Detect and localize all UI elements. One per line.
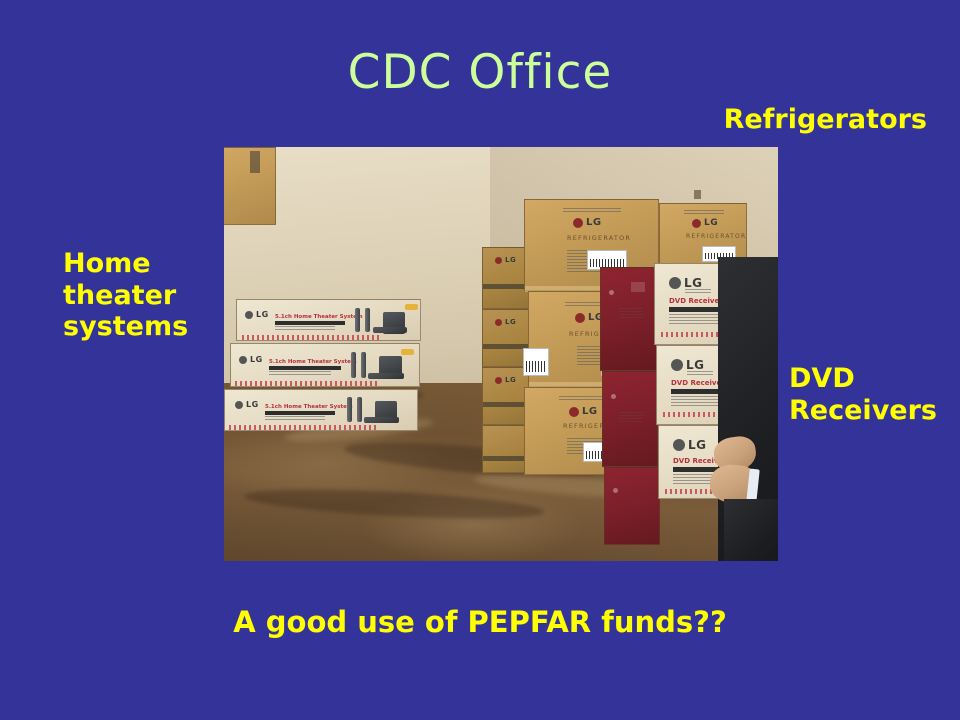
product-label-home-theater: 5.1ch Home Theater System (265, 404, 353, 410)
spec-text (265, 416, 325, 421)
red-carton-top (600, 267, 658, 371)
shipping-label (523, 348, 549, 376)
lg-circle-icon (245, 311, 253, 319)
spec-bar (265, 411, 335, 415)
lg-circle-icon (673, 439, 685, 451)
product-label-home-theater: 5.1ch Home Theater System (275, 314, 363, 320)
lg-logo: LG (569, 406, 598, 417)
red-carton-label (631, 282, 645, 292)
lg-circle-icon (573, 218, 583, 228)
slide-caption: A good use of PEPFAR funds?? (0, 605, 960, 639)
lg-circle-icon (575, 313, 585, 323)
wall-switch-mark (694, 190, 701, 199)
callout-home-theater: Home theater systems (63, 248, 188, 343)
spec-bar (269, 366, 341, 370)
product-label-refrigerator: REFRIGERATOR (686, 233, 746, 240)
lg-wordmark: LG (688, 438, 707, 452)
lg-wordmark: LG (505, 256, 516, 264)
lg-wordmark: LG (250, 355, 263, 364)
lg-logo: LG (669, 276, 703, 290)
red-carton-mark (609, 290, 614, 295)
slide: CDC Office Refrigerators Home theater sy… (0, 0, 960, 720)
red-carton-mid (602, 371, 658, 467)
product-label-refrigerator: REFRIGERATOR (567, 234, 631, 242)
spec-text (275, 326, 335, 331)
lg-wordmark: LG (684, 276, 703, 290)
yellow-sticker (405, 304, 418, 310)
photo-scene: LG 5.1ch Home Theater System LG 5.1ch Ho… (224, 147, 778, 561)
callout-refrigerators: Refrigerators (724, 104, 927, 136)
lg-wordmark: LG (586, 217, 602, 228)
center-speaker (364, 417, 399, 423)
home-theater-box-bottom: LG 5.1ch Home Theater System (224, 389, 418, 431)
lg-logo: LG (495, 256, 516, 264)
callout-dvd-receivers: DVD Receivers (789, 363, 937, 426)
korean-text (563, 208, 621, 214)
speaker-tower (361, 352, 366, 378)
lg-logo: LG (573, 217, 602, 228)
lg-logo: LG (245, 310, 269, 319)
lg-wordmark: LG (505, 318, 516, 326)
lg-logo: LG (495, 318, 516, 326)
lg-wordmark: LG (505, 376, 516, 384)
person-lower-jacket (724, 499, 778, 561)
red-carton-mark (611, 394, 616, 399)
lg-tagline (687, 371, 713, 375)
photo-office-boxes: LG 5.1ch Home Theater System LG 5.1ch Ho… (224, 147, 778, 561)
decor-dotline (229, 425, 377, 430)
red-carton-text (619, 308, 643, 320)
speaker-tower (365, 308, 370, 332)
lg-wordmark: LG (256, 310, 269, 319)
lg-wordmark: LG (704, 218, 718, 228)
spec-bar (275, 321, 345, 325)
spec-text (269, 371, 331, 376)
lg-wordmark: LG (246, 400, 259, 409)
page-title: CDC Office (0, 48, 960, 97)
center-speaker (368, 373, 404, 379)
lg-circle-icon (239, 356, 247, 364)
lg-wordmark: LG (582, 406, 598, 417)
yellow-sticker (401, 349, 414, 355)
lg-logo: LG (239, 355, 263, 364)
lg-circle-icon (495, 377, 502, 384)
lg-logo: LG (235, 400, 259, 409)
carton-top-left-mark (250, 151, 260, 173)
lg-logo: LG (495, 376, 516, 384)
lg-circle-icon (495, 257, 502, 264)
home-theater-box-mid: LG 5.1ch Home Theater System (230, 343, 420, 387)
side-carton-1: LG (482, 247, 530, 309)
red-carton-text (619, 412, 643, 424)
speaker-tower (357, 397, 362, 422)
lg-wordmark: LG (686, 358, 705, 372)
lg-tagline (685, 289, 711, 293)
center-speaker (373, 327, 407, 333)
lg-circle-icon (692, 219, 701, 228)
speaker-tower (351, 352, 356, 378)
side-carton-4 (482, 425, 530, 473)
lg-logo: LG (671, 358, 705, 372)
lg-circle-icon (235, 401, 243, 409)
speaker-tower (355, 308, 360, 332)
lg-circle-icon (495, 319, 502, 326)
decor-dotline (235, 381, 380, 386)
lg-circle-icon (671, 359, 683, 371)
lg-logo: LG (673, 438, 707, 452)
decor-dotline (242, 335, 382, 340)
lg-circle-icon (569, 407, 579, 417)
red-carton-mark (613, 488, 618, 493)
speaker-tower (347, 397, 352, 422)
home-theater-box-top: LG 5.1ch Home Theater System (236, 299, 421, 341)
lg-logo: LG (692, 218, 718, 228)
red-carton-bottom (604, 467, 660, 545)
korean-text (684, 210, 724, 216)
lg-circle-icon (669, 277, 681, 289)
product-label-home-theater: 5.1ch Home Theater System (269, 359, 357, 365)
